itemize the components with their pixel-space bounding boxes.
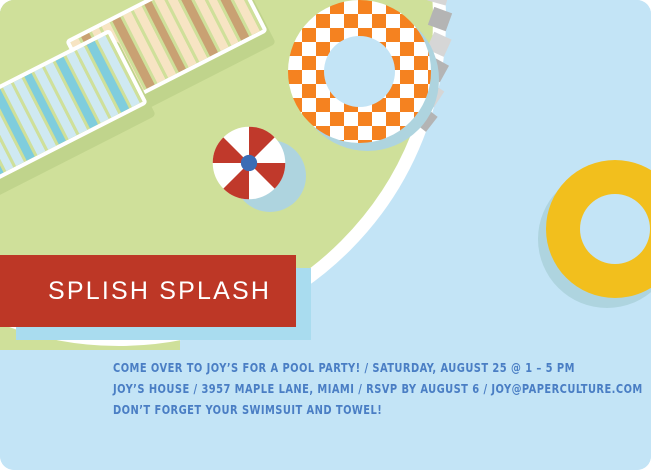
- checkered-pool-float-hole: [324, 36, 395, 107]
- pool-party-invitation-card: SPLISH SPLASH COME OVER TO JOY’S FOR A P…: [0, 0, 651, 470]
- details-line-2: JOY’S HOUSE / 3957 MAPLE LANE, MIAMI / R…: [113, 378, 643, 399]
- title-banner: SPLISH SPLASH: [0, 255, 296, 327]
- page-title: SPLISH SPLASH: [0, 277, 271, 306]
- beach-ball-icon: [212, 126, 286, 200]
- details-line-3: DON’T FORGET YOUR SWIMSUIT AND TOWEL!: [113, 399, 643, 420]
- details-line-1: COME OVER TO JOY’S FOR A POOL PARTY! / S…: [113, 357, 643, 378]
- event-details: COME OVER TO JOY’S FOR A POOL PARTY! / S…: [113, 357, 643, 420]
- beach-ball: [212, 126, 286, 200]
- yellow-pool-float-hole: [580, 194, 650, 264]
